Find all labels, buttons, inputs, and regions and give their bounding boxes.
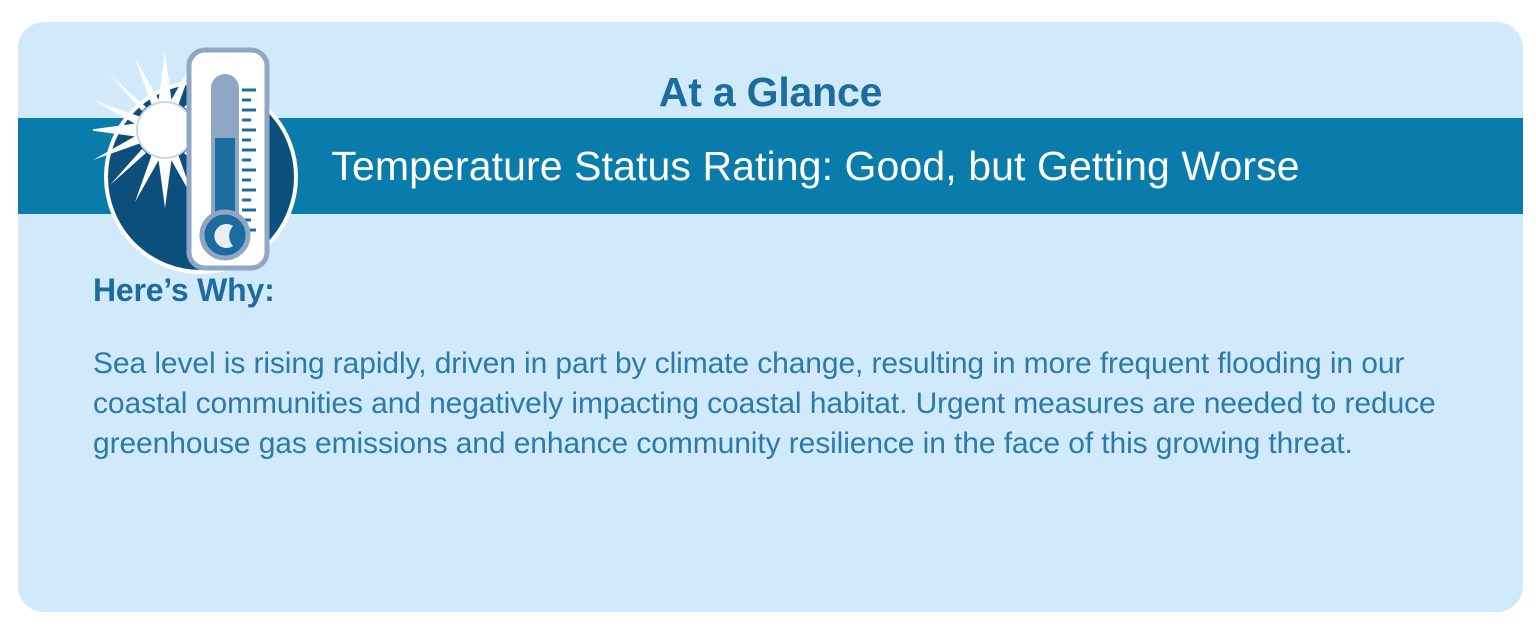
thermometer-icon bbox=[189, 50, 267, 268]
status-badge: Temperature Status Rating: Good, but Get… bbox=[241, 146, 1299, 187]
infographic-canvas: At a Glance Temperature Status Rating: G… bbox=[0, 0, 1536, 640]
at-a-glance-card: At a Glance Temperature Status Rating: G… bbox=[18, 22, 1523, 612]
thermometer-sun-icon bbox=[93, 32, 313, 282]
body-paragraph: Sea level is rising rapidly, driven in p… bbox=[93, 344, 1493, 464]
